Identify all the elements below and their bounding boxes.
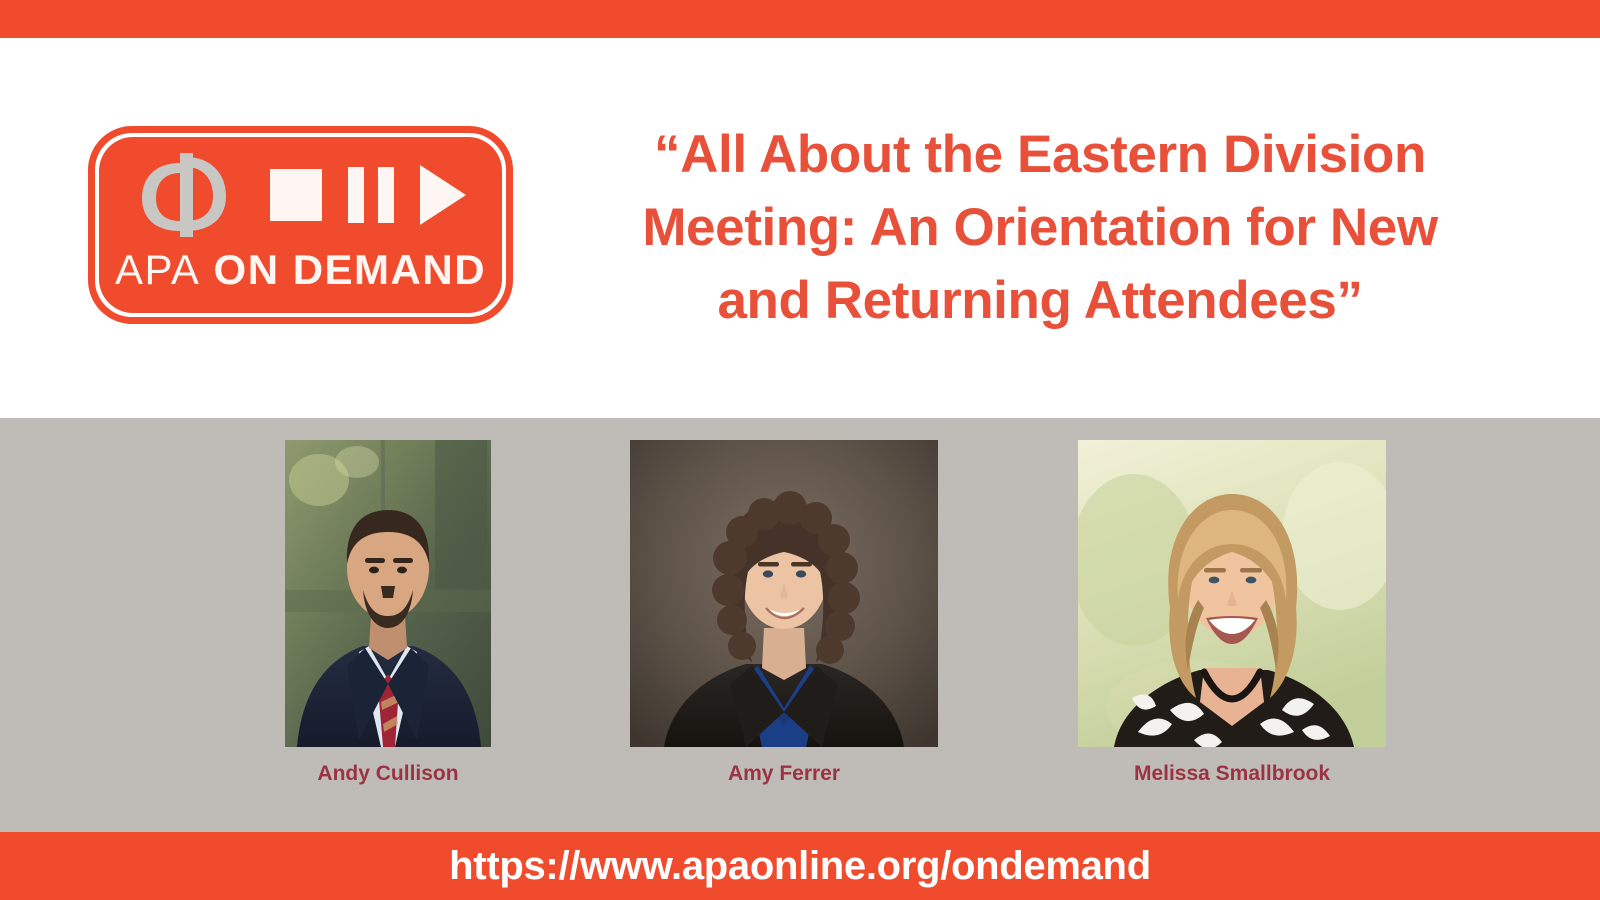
footer-url[interactable]: https://www.apaonline.org/ondemand [449, 846, 1151, 886]
footer-bar: https://www.apaonline.org/ondemand [0, 832, 1600, 900]
stop-icon [270, 169, 322, 221]
logo-wordmark: APA ON DEMAND [115, 249, 486, 291]
speakers-band: Andy Cullison [0, 418, 1600, 832]
phi-icon [136, 153, 244, 237]
logo-icon-row [136, 153, 466, 237]
speaker-photo-amy-ferrer [630, 440, 938, 747]
logo-wordmark-ondemand: ON DEMAND [214, 246, 487, 293]
promo-slide: APA ON DEMAND “All About the Eastern Div… [0, 0, 1600, 900]
play-icon [420, 165, 466, 225]
pause-icon [348, 167, 394, 223]
logo-inner-panel: APA ON DEMAND [99, 137, 502, 313]
speaker-photo-melissa-smallbrook [1078, 440, 1386, 747]
speaker-name: Andy Cullison [317, 763, 458, 784]
speaker-card-amy-ferrer: Amy Ferrer [630, 440, 938, 784]
slide-header: APA ON DEMAND “All About the Eastern Div… [0, 38, 1600, 418]
slide-title: “All About the Eastern Division Meeting:… [640, 118, 1440, 337]
speaker-name: Amy Ferrer [728, 763, 840, 784]
speaker-photo-andy-cullison [285, 440, 491, 747]
speaker-name: Melissa Smallbrook [1134, 763, 1330, 784]
top-accent-bar [0, 0, 1600, 38]
logo-wordmark-apa: APA [115, 246, 200, 293]
apa-on-demand-logo[interactable]: APA ON DEMAND [88, 126, 513, 324]
speaker-card-melissa-smallbrook: Melissa Smallbrook [1078, 440, 1386, 784]
speaker-card-andy-cullison: Andy Cullison [285, 440, 491, 784]
